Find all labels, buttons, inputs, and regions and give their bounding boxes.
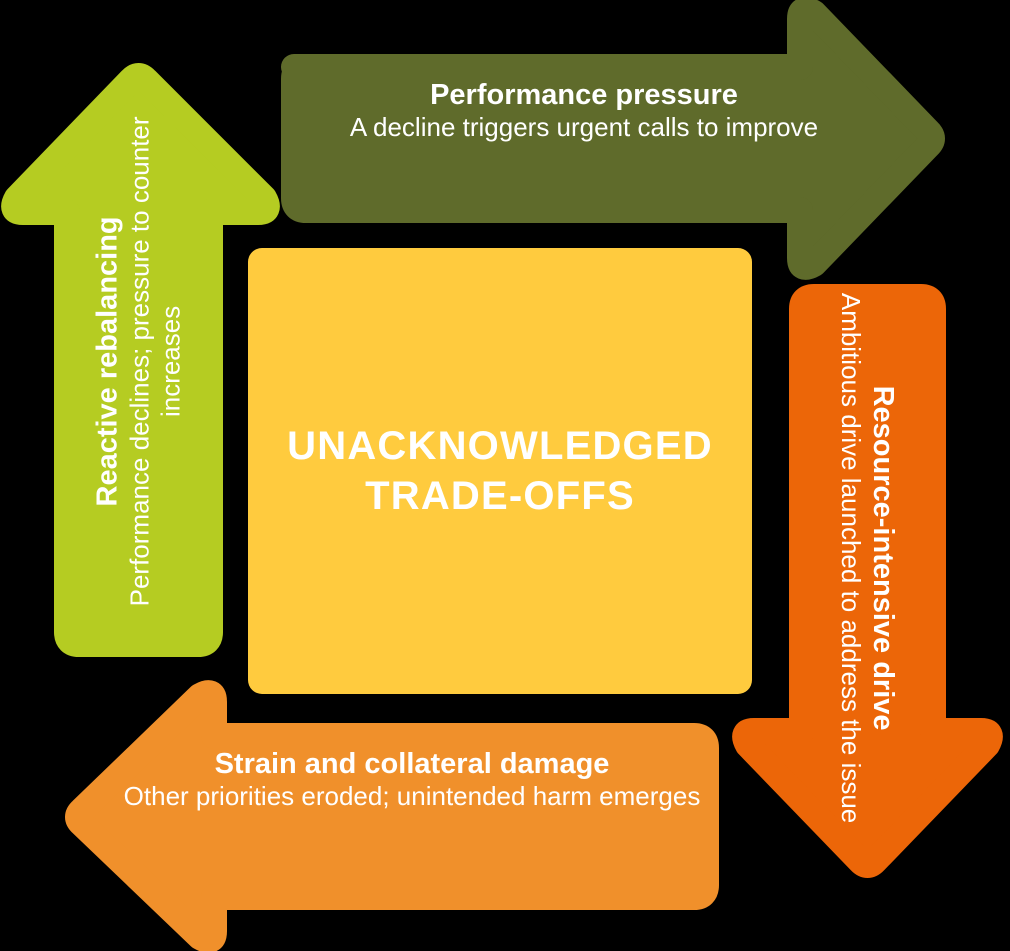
center-concept-box[interactable]: UNACKNOWLEDGED TRADE-OFFS	[248, 248, 752, 694]
diagram-canvas: Performance pressure A decline triggers …	[0, 0, 1010, 951]
arrow-subtitle: Ambitious drive launched to address the …	[835, 288, 866, 828]
arrow-reactive-rebalancing[interactable]: Reactive rebalancing Performance decline…	[5, 68, 272, 658]
arrow-label-reactive-rebalancing: Reactive rebalancing Performance decline…	[92, 101, 187, 621]
arrow-resource-intensive-drive[interactable]: Resource-intensive drive Ambitious drive…	[732, 283, 1003, 875]
arrow-title: Performance pressure	[280, 79, 888, 111]
arrow-title: Reactive rebalancing	[92, 101, 124, 621]
arrow-performance-pressure[interactable]: Performance pressure A decline triggers …	[280, 5, 932, 272]
center-concept-label: UNACKNOWLEDGED TRADE-OFFS	[248, 421, 752, 521]
arrow-strain-and-collateral-damage[interactable]: Strain and collateral damage Other prior…	[66, 688, 720, 945]
arrow-label-strain-and-collateral-damage: Strain and collateral damage Other prior…	[112, 748, 712, 812]
arrow-subtitle: A decline triggers urgent calls to impro…	[280, 112, 888, 143]
arrow-left-shape-icon	[66, 688, 720, 945]
arrow-label-resource-intensive-drive: Resource-intensive drive Ambitious drive…	[835, 288, 899, 828]
arrow-title: Resource-intensive drive	[867, 288, 899, 828]
arrow-subtitle: Other priorities eroded; unintended harm…	[112, 781, 712, 812]
arrow-title: Strain and collateral damage	[112, 748, 712, 780]
arrow-subtitle: Performance declines; pressure to counte…	[125, 101, 186, 621]
arrow-label-performance-pressure: Performance pressure A decline triggers …	[280, 79, 888, 143]
